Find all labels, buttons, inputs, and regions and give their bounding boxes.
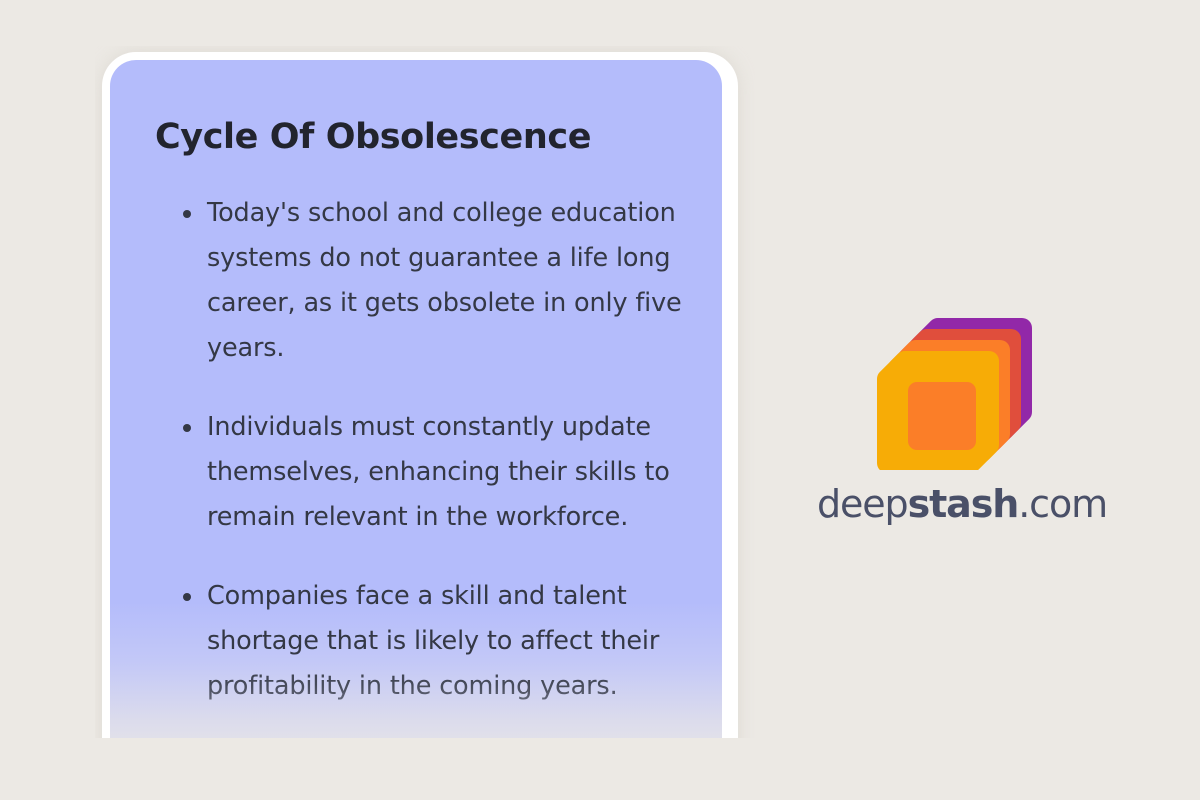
wordmark-prefix: deep: [817, 482, 908, 526]
list-item-text: Companies face a skill and talent shorta…: [207, 581, 659, 701]
wordmark-suffix: .com: [1018, 482, 1107, 526]
wordmark-emphasis: stash: [908, 482, 1019, 526]
page-title: Cycle Of Obsolescence: [155, 117, 690, 157]
bullet-icon: [183, 210, 191, 218]
card-white-frame: [102, 52, 738, 738]
list-item: Individuals must constantly update thems…: [140, 405, 690, 540]
card-body: Cycle Of Obsolescence Today's school and…: [110, 60, 722, 738]
card-gradient-background: [110, 60, 722, 738]
card-content: Cycle Of Obsolescence Today's school and…: [110, 60, 722, 709]
brand-wordmark: deepstash.com: [812, 482, 1112, 526]
list-item-text: Today's school and college education sys…: [207, 198, 682, 363]
deepstash-logo: [812, 300, 1112, 470]
idea-list: Today's school and college education sys…: [140, 191, 690, 709]
bullet-icon: [183, 424, 191, 432]
list-item: Companies face a skill and talent shorta…: [140, 574, 690, 709]
brand-block: deepstash.com: [812, 300, 1112, 540]
idea-card[interactable]: Cycle Of Obsolescence Today's school and…: [95, 46, 755, 738]
list-item: Today's school and college education sys…: [140, 191, 690, 371]
screenshot-stage: Cycle Of Obsolescence Today's school and…: [0, 0, 1200, 800]
card-shadow: [102, 52, 738, 738]
stacked-cubes-icon: [812, 300, 1112, 470]
list-item-text: Individuals must constantly update thems…: [207, 412, 670, 532]
bullet-icon: [183, 593, 191, 601]
